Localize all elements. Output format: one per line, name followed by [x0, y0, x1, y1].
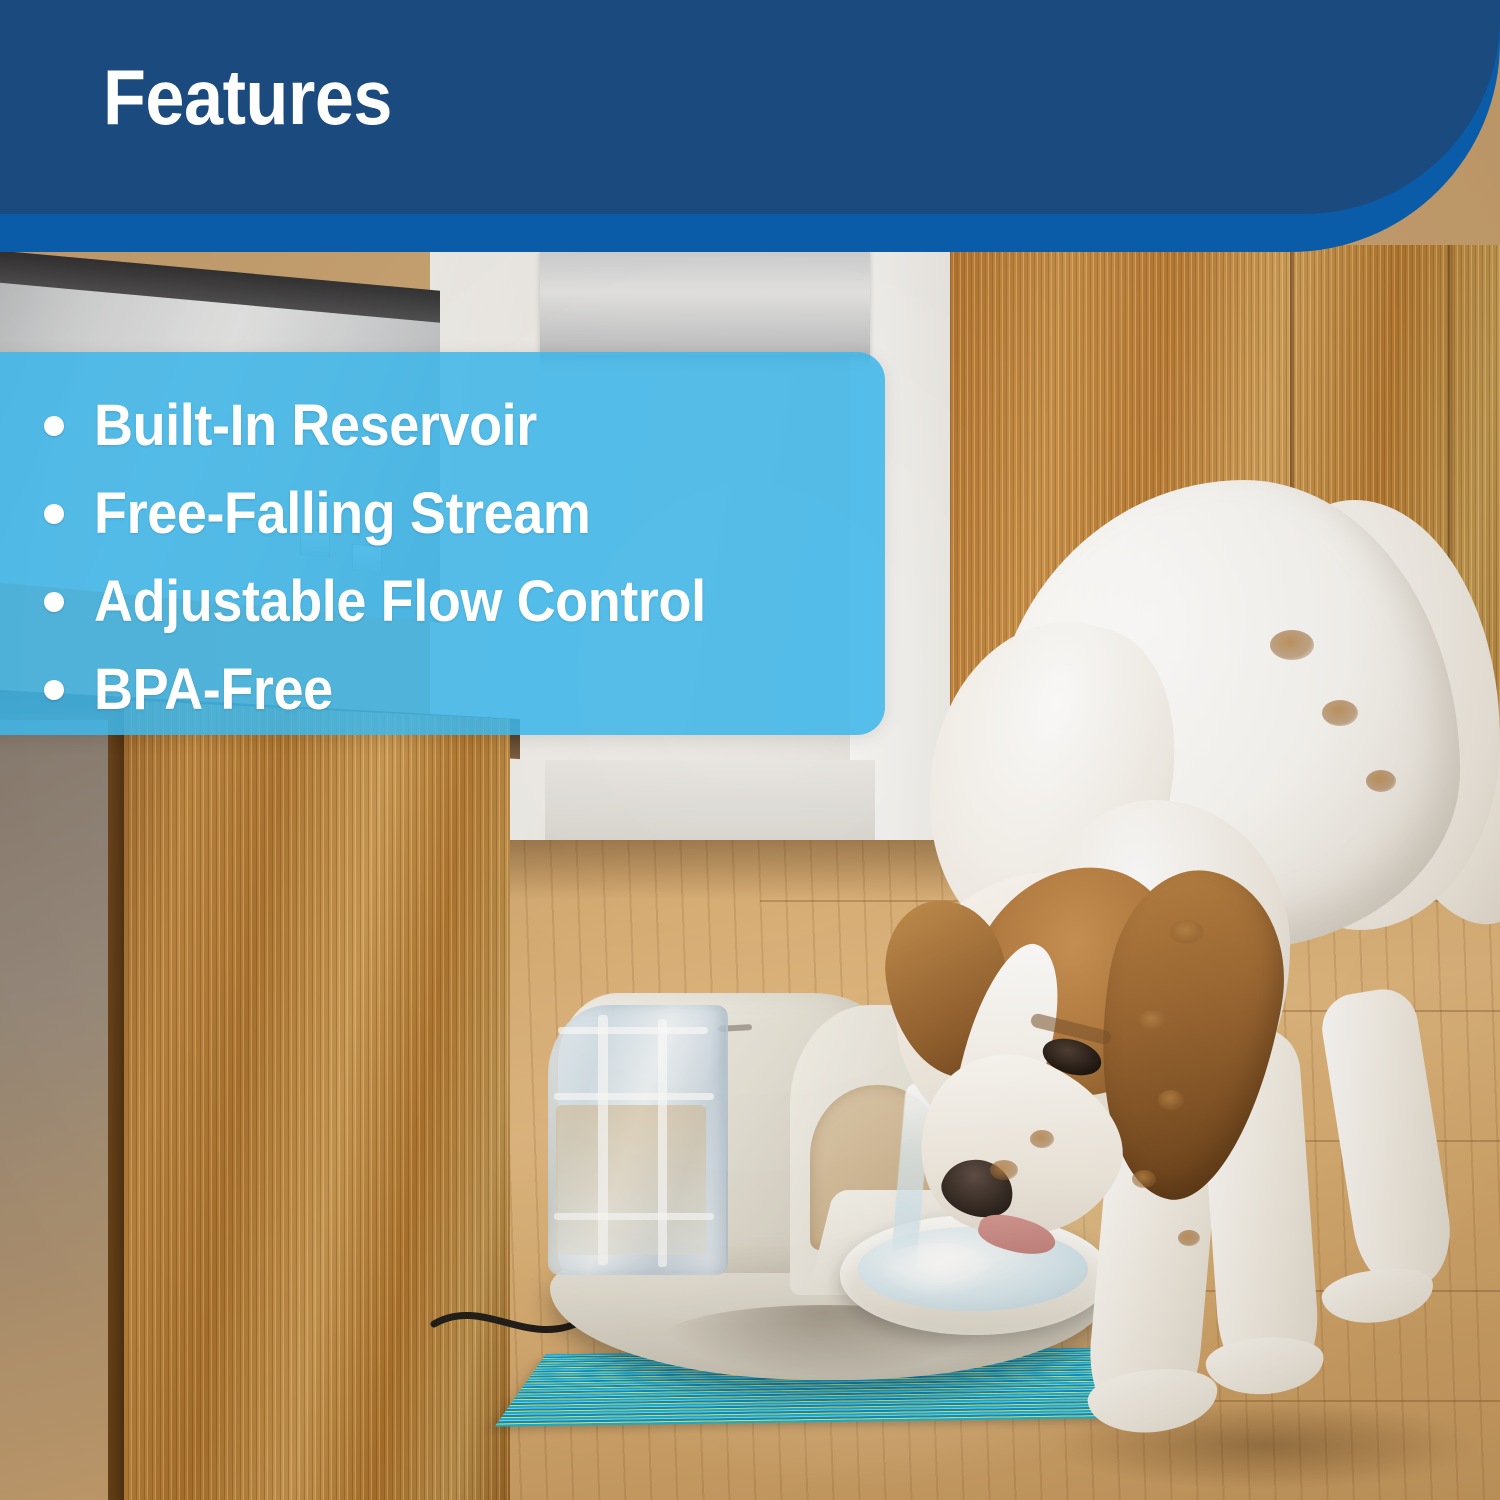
feature-label: Built-In Reservoir	[94, 397, 537, 455]
bullet-icon	[44, 592, 64, 612]
product-feature-card: Features Built-In Reservoir Free-Falling…	[0, 0, 1500, 1500]
dog-coat-spot	[1170, 920, 1204, 944]
dog-coat-spot	[1270, 630, 1314, 660]
reservoir-rib	[554, 1213, 714, 1220]
dog-coat-spot	[1138, 1010, 1168, 1032]
features-list: Built-In Reservoir Free-Falling Stream A…	[0, 352, 900, 735]
dog-hind-leg	[1317, 984, 1459, 1295]
bullet-icon	[44, 504, 64, 524]
dog-coat-spot	[1132, 1170, 1156, 1188]
feature-label: Free-Falling Stream	[94, 485, 591, 543]
feature-label: Adjustable Flow Control	[94, 573, 706, 631]
page-title: Features	[103, 58, 392, 136]
feature-item-free-falling-stream: Free-Falling Stream	[0, 470, 900, 558]
bullet-icon	[44, 416, 64, 436]
dog-coat-spot	[1322, 700, 1358, 726]
dog-muzzle-spot	[1030, 1130, 1054, 1148]
feature-label: BPA-Free	[94, 661, 333, 719]
dog-coat-spot	[1366, 770, 1396, 792]
feature-item-adjustable-flow-control: Adjustable Flow Control	[0, 558, 900, 646]
cabinet-edge-left	[108, 700, 124, 1500]
bullet-icon	[44, 680, 64, 700]
appliance-control-panel	[540, 250, 870, 355]
reservoir-water-level	[556, 1105, 706, 1255]
reservoir-rib	[558, 1027, 708, 1034]
dog-muzzle-spot	[990, 1160, 1018, 1180]
reservoir-rib	[658, 1019, 667, 1267]
feature-item-built-in-reservoir: Built-In Reservoir	[0, 382, 900, 470]
dog-coat-spot	[1178, 1230, 1200, 1246]
wood-cabinet-left	[120, 700, 510, 1500]
dog-paw	[1319, 1262, 1437, 1329]
reservoir-rib	[598, 1015, 608, 1265]
reservoir-rib	[554, 1093, 714, 1100]
feature-item-bpa-free: BPA-Free	[0, 646, 900, 734]
left-shadow-wall	[0, 720, 125, 1500]
dog-coat-spot	[1158, 1090, 1184, 1110]
dog	[870, 470, 1500, 1500]
